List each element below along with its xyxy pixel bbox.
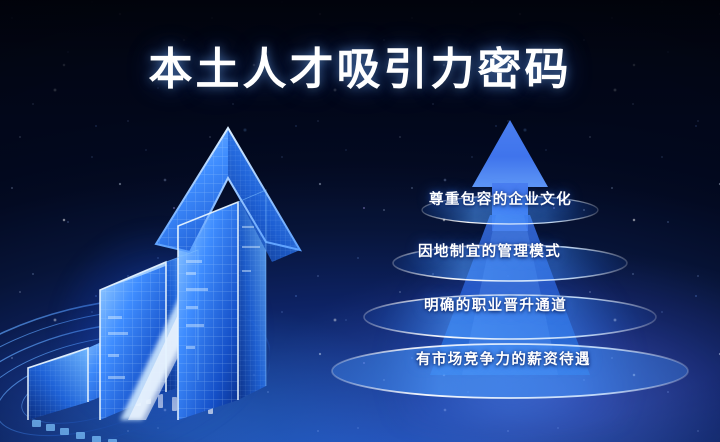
funnel-item-label-1: 尊重包容的企业文化 [429, 188, 572, 209]
funnel-item-label-3: 明确的职业晋升通道 [424, 294, 567, 315]
funnel-item-label-2: 因地制宜的管理模式 [418, 240, 561, 261]
slide-canvas: 本土人才吸引力密码 尊重包容的企业文化 因地制宜的管理模式 明确的职业晋升通道 … [0, 0, 720, 442]
rising-arrow-icon [0, 120, 330, 442]
page-title: 本土人才吸引力密码 [0, 33, 720, 97]
funnel-item-label-4: 有市场竞争力的薪资待遇 [416, 348, 591, 369]
rising-arrow-artwork [0, 120, 330, 442]
